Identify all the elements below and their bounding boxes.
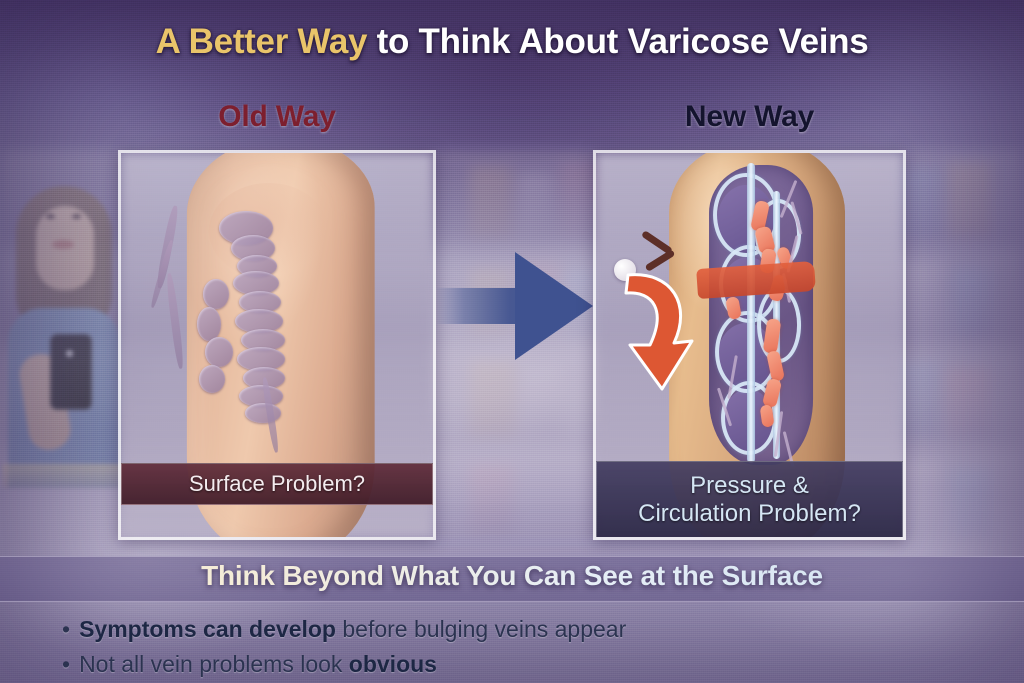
panel-old-way[interactable]: Surface Problem? (118, 150, 436, 540)
caption-new-line2: Circulation Problem? (638, 500, 861, 528)
bullet-dot-2: • (62, 651, 70, 677)
bullet-1-rest: before bulging veins appear (336, 616, 626, 642)
right-arrow-icon (437, 252, 595, 360)
caption-new-line1: Pressure & (690, 472, 809, 500)
bullet-dot: • (62, 616, 70, 642)
bullet-item-2: •Not all vein problems look obvious (62, 647, 984, 682)
caption-new-way: Pressure & Circulation Problem? (596, 461, 903, 539)
panel-new-way[interactable]: Pressure & Circulation Problem? (593, 150, 906, 540)
title-rest: to Think About Varicose Veins (367, 22, 868, 61)
subtitle-text: Think Beyond What You Can See at the Sur… (0, 560, 1024, 592)
bullet-item-1: •Symptoms can develop before bulging vei… (62, 612, 984, 647)
reflux-arrow-icon (610, 265, 702, 397)
heading-old-way: Old Way (118, 100, 436, 134)
caption-old-way: Surface Problem? (121, 463, 433, 505)
bullet-1-bold: Symptoms can develop (79, 616, 336, 642)
bullet-list: •Symptoms can develop before bulging vei… (62, 612, 984, 682)
page-title: A Better Way to Think About Varicose Vei… (0, 22, 1024, 62)
bulging-vein-cluster (193, 211, 309, 441)
caption-old-text: Surface Problem? (189, 471, 365, 497)
heading-new-way: New Way (593, 100, 906, 134)
bullet-2-lead: Not all vein problems look (79, 651, 349, 677)
infographic-root: A Better Way to Think About Varicose Vei… (0, 0, 1024, 683)
title-accent: A Better Way (156, 22, 368, 61)
bullet-2-bold: obvious (349, 651, 437, 677)
